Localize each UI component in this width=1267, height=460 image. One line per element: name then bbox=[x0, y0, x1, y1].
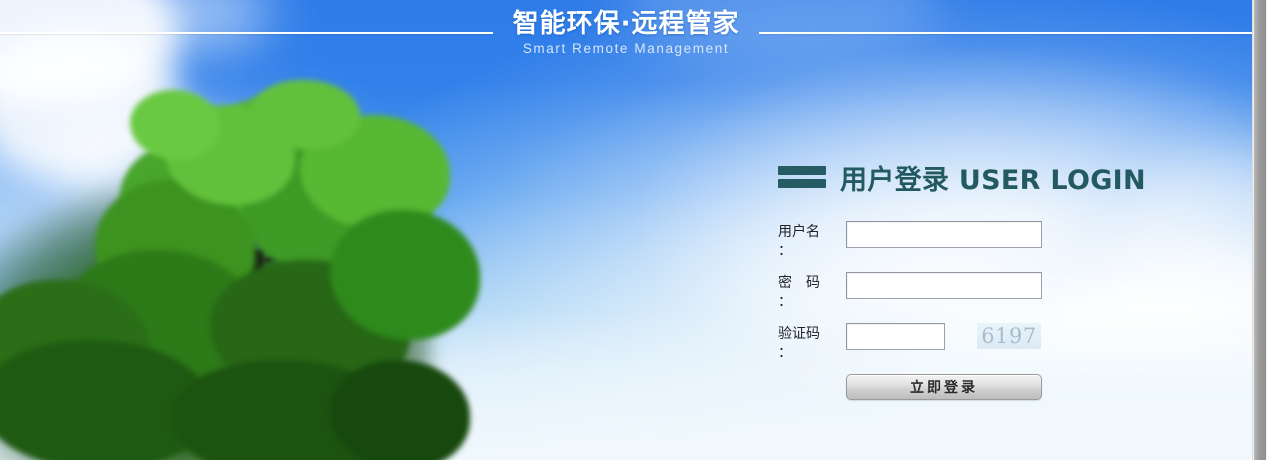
page-header: 智能环保·远程管家 Smart Remote Management bbox=[0, 0, 1252, 66]
tree-foliage bbox=[130, 90, 220, 160]
login-button[interactable]: 立即登录 bbox=[846, 374, 1042, 400]
login-title: 用户登录 USER LOGIN bbox=[840, 158, 1146, 197]
captcha-image[interactable]: 6197 bbox=[977, 323, 1041, 349]
tree-illustration bbox=[0, 40, 470, 460]
login-panel: 用户登录 USER LOGIN 用户名 ： 密 码 ： 验证码 bbox=[778, 155, 1198, 400]
scrollbar-thumb[interactable] bbox=[1254, 0, 1266, 460]
vertical-scrollbar[interactable] bbox=[1252, 0, 1267, 460]
captcha-label: 验证码 ： bbox=[778, 323, 846, 363]
form-row-password: 密 码 ： bbox=[778, 272, 1198, 312]
login-form: 用户名 ： 密 码 ： 验证码 ： 6197 bbox=[778, 221, 1198, 400]
username-label-text: 用户名 bbox=[778, 224, 820, 240]
password-label-text: 密 码 bbox=[778, 275, 820, 291]
password-label-colon: ： bbox=[778, 293, 846, 312]
brand-title-en: Smart Remote Management bbox=[513, 42, 740, 56]
header-rule-right bbox=[759, 32, 1252, 34]
captcha-label-text: 验证码 bbox=[778, 326, 820, 342]
username-input[interactable] bbox=[846, 221, 1042, 248]
form-row-username: 用户名 ： bbox=[778, 221, 1198, 261]
tree-foliage bbox=[330, 360, 470, 460]
login-title-row: 用户登录 USER LOGIN bbox=[778, 155, 1198, 199]
form-row-captcha: 验证码 ： 6197 bbox=[778, 323, 1198, 363]
captcha-input[interactable] bbox=[846, 323, 945, 350]
username-label-colon: ： bbox=[778, 242, 846, 261]
brand-block: 智能环保·远程管家 Smart Remote Management bbox=[511, 11, 742, 56]
captcha-label-colon: ： bbox=[778, 344, 846, 363]
two-bars-icon bbox=[778, 166, 826, 188]
submit-row: 立即登录 bbox=[846, 374, 1198, 400]
login-page: 智能环保·远程管家 Smart Remote Management 用户登录 U… bbox=[0, 0, 1267, 460]
username-label: 用户名 ： bbox=[778, 221, 846, 261]
header-rule-left bbox=[0, 32, 493, 34]
password-label: 密 码 ： bbox=[778, 272, 846, 312]
password-input[interactable] bbox=[846, 272, 1042, 299]
brand-title-cn: 智能环保·远程管家 bbox=[513, 11, 740, 37]
